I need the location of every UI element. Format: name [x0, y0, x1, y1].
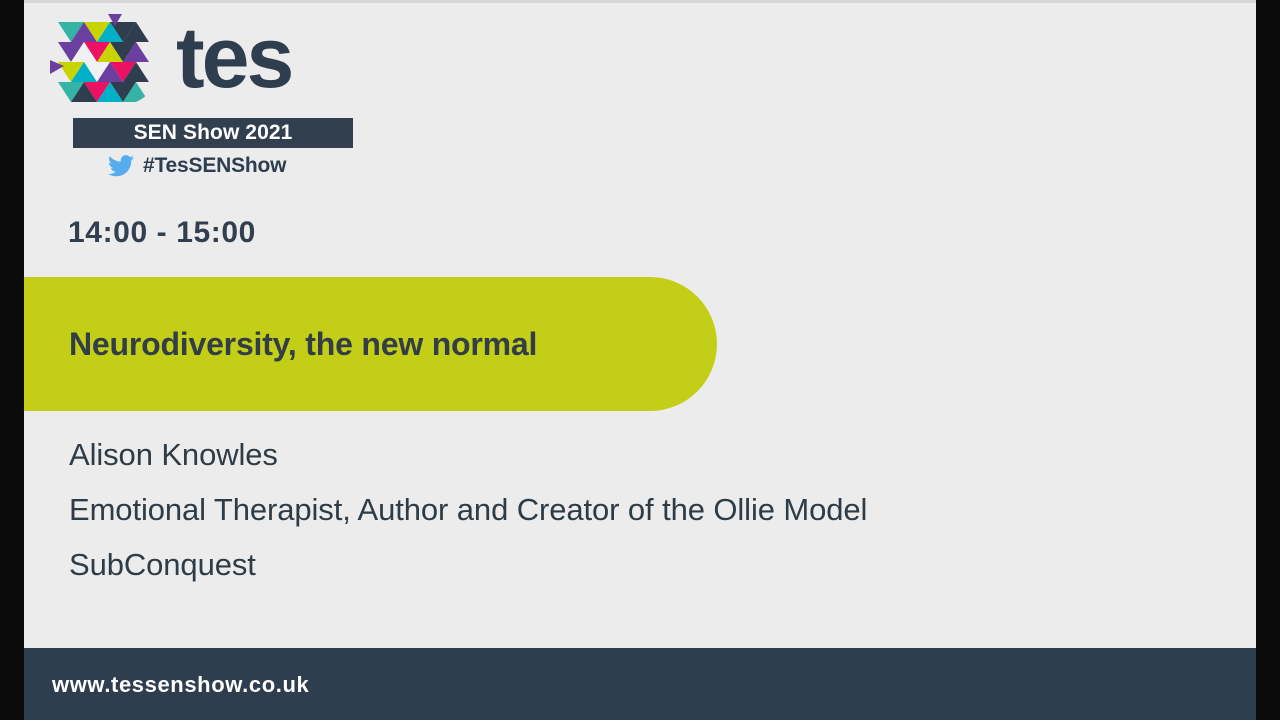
mosaic-triangle — [1101, 110, 1181, 210]
mosaic-triangle — [1176, 0, 1256, 100]
speaker-block: Alison Knowles Emotional Therapist, Auth… — [69, 427, 1159, 592]
mosaic-triangle — [1181, 470, 1256, 540]
tes-wordmark: tes — [176, 10, 291, 106]
mosaic-triangle — [1021, 320, 1101, 430]
presentation-slide: tes SEN Show 2021 #TesSENShow 14:00 - 15… — [0, 0, 1280, 720]
mosaic-triangle — [1184, 620, 1256, 648]
mosaic-triangle — [1021, 110, 1101, 210]
session-title: Neurodiversity, the new normal — [69, 326, 537, 363]
session-time: 14:00 - 15:00 — [68, 216, 256, 250]
footer-bar: www.tessenshow.co.uk — [24, 648, 1256, 720]
mosaic-triangle — [1181, 540, 1256, 648]
mosaic-triangle — [1176, 0, 1256, 100]
logo-row: tes — [50, 12, 370, 106]
twitter-bird-icon — [108, 155, 134, 177]
mosaic-triangle — [1181, 320, 1256, 430]
session-title-banner: Neurodiversity, the new normal — [24, 277, 717, 411]
speaker-name: Alison Knowles — [69, 427, 1159, 482]
tes-logo-block: tes SEN Show 2021 #TesSENShow — [50, 12, 370, 106]
top-divider-line — [24, 0, 1256, 3]
mosaic-triangle — [1181, 320, 1256, 430]
mosaic-triangle — [1181, 210, 1256, 320]
slide-content-panel: tes SEN Show 2021 #TesSENShow 14:00 - 15… — [24, 0, 1256, 720]
footer-website-url[interactable]: www.tessenshow.co.uk — [52, 672, 309, 698]
mosaic-triangle — [1181, 110, 1256, 210]
mosaic-triangle — [1181, 210, 1256, 320]
mosaic-triangle — [1181, 430, 1256, 540]
mosaic-triangle — [1181, 110, 1256, 210]
tes-triangle-mosaic-logo — [50, 14, 178, 110]
hashtag-row: #TesSENShow — [108, 154, 286, 178]
speaker-role: Emotional Therapist, Author and Creator … — [69, 482, 1159, 537]
speaker-organisation: SubConquest — [69, 537, 1159, 592]
mosaic-triangle — [1181, 540, 1256, 648]
mosaic-triangle — [1101, 320, 1181, 430]
hashtag-text: #TesSENShow — [143, 154, 286, 178]
mosaic-triangle — [1181, 430, 1256, 540]
mosaic-triangle — [1021, 210, 1181, 320]
event-name-text: SEN Show 2021 — [134, 121, 293, 145]
mosaic-triangle — [1021, 320, 1181, 430]
mosaic-triangle — [1021, 110, 1181, 210]
event-name-banner: SEN Show 2021 — [73, 118, 353, 148]
